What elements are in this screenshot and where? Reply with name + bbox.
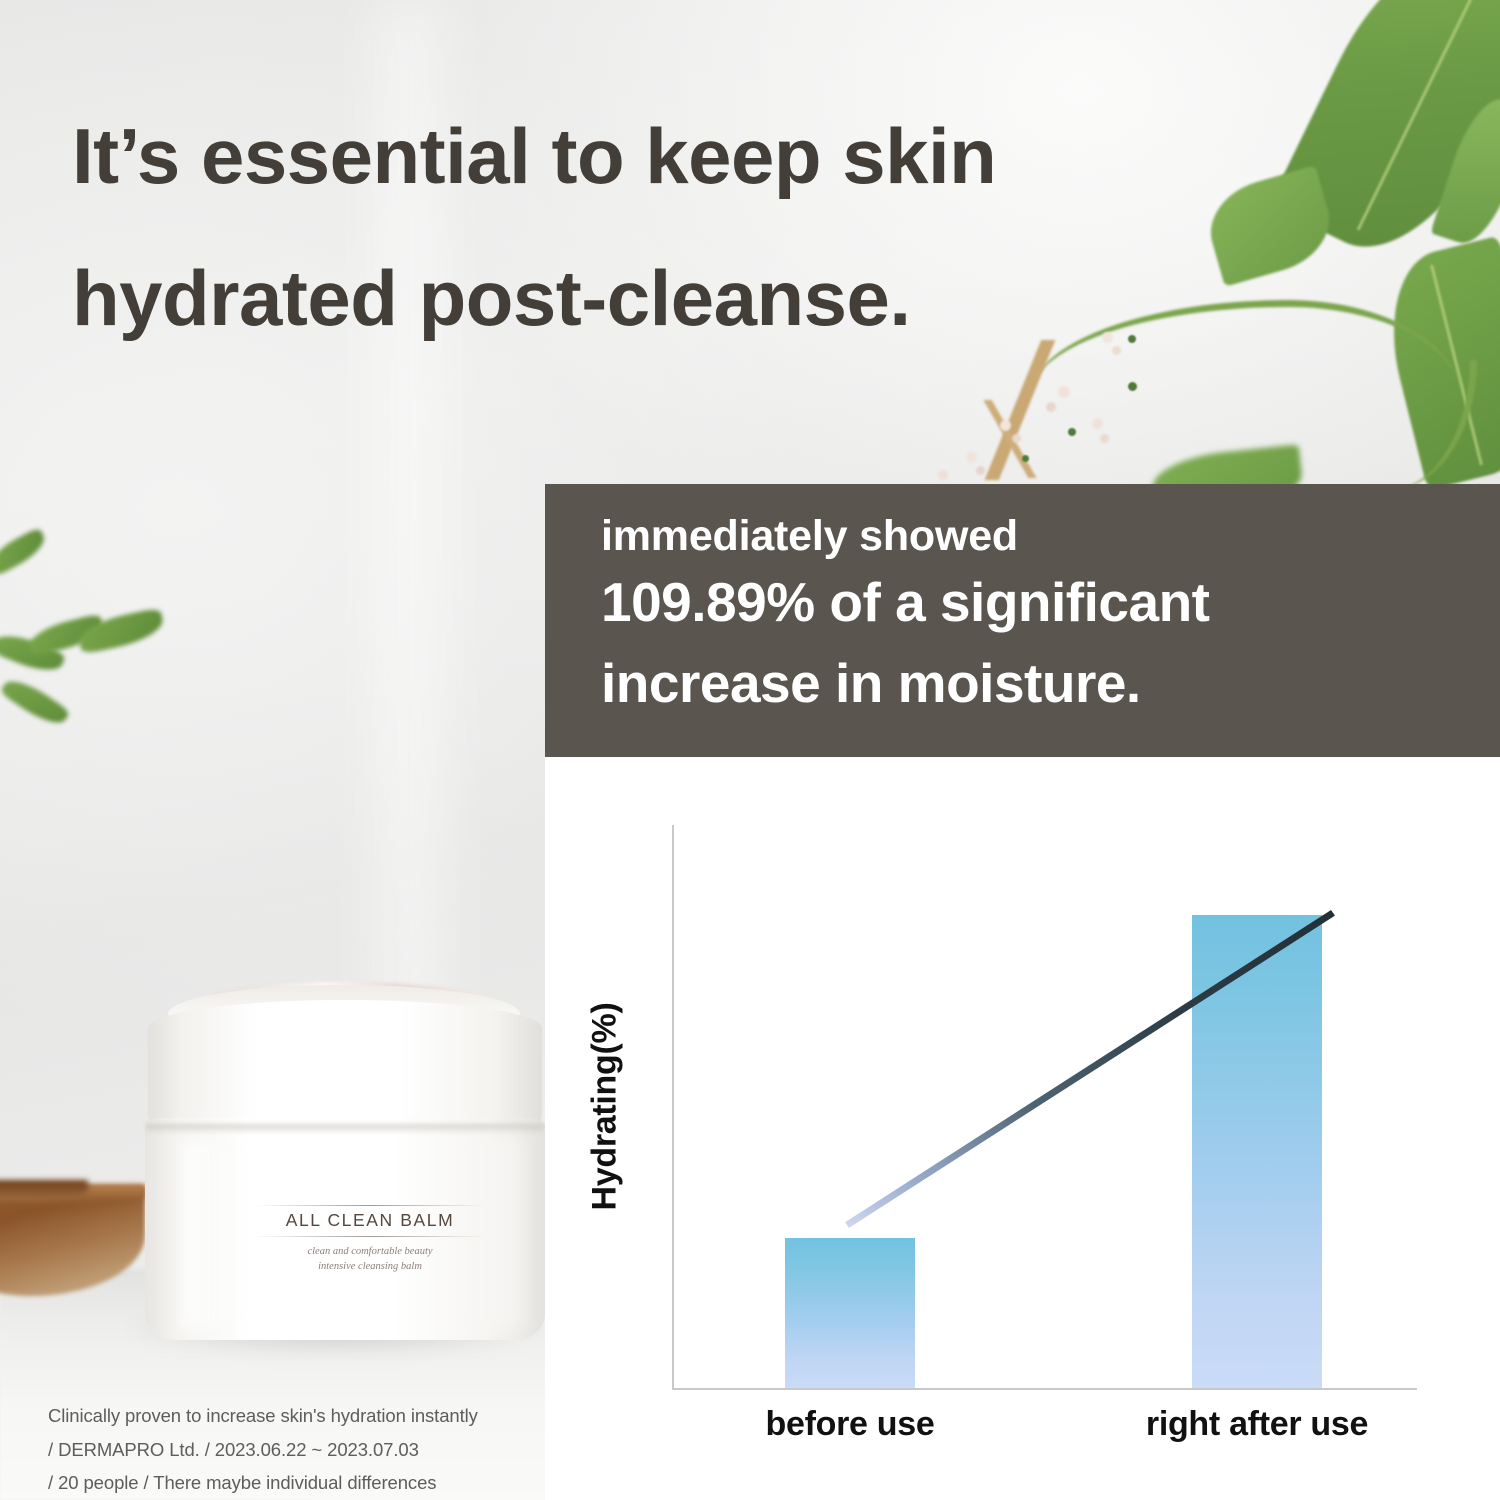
flower-bud xyxy=(1022,455,1029,462)
flower-bud xyxy=(1100,434,1109,443)
callout-text-block: immediately showed 109.89% of a signific… xyxy=(601,510,1482,723)
flower-bud xyxy=(976,466,985,475)
chart-y-axis-label: Hydrating(%) xyxy=(586,897,625,1317)
chart-y-axis-line xyxy=(672,825,674,1390)
flower-bud xyxy=(1058,386,1070,398)
study-footnote: Clinically proven to increase skin's hyd… xyxy=(48,1399,548,1500)
jar-label-subtitle-1: clean and comfortable beauty xyxy=(255,1237,485,1259)
headline-line-2: hydrated post-cleanse. xyxy=(72,228,1252,370)
chart-x-axis-line xyxy=(672,1388,1417,1390)
flower-bud xyxy=(1046,402,1056,412)
statistic-callout-box: immediately showed 109.89% of a signific… xyxy=(545,484,1500,758)
callout-line-3: increase in moisture. xyxy=(601,643,1482,723)
page-title: It’s essential to keep skin hydrated pos… xyxy=(72,86,1252,370)
jar-lid xyxy=(148,1000,542,1128)
footnote-line-1: Clinically proven to increase skin's hyd… xyxy=(48,1399,548,1433)
flower-bud xyxy=(966,452,977,463)
chart-bar-before-use xyxy=(785,1238,915,1388)
hydration-bar-chart: Hydrating(%) before use right after use xyxy=(545,757,1500,1500)
flower-bud xyxy=(1000,420,1011,431)
flower-bud xyxy=(1128,382,1137,391)
chart-trend-line xyxy=(845,907,1335,1227)
footnote-line-3: / 20 people / There maybe individual dif… xyxy=(48,1466,548,1500)
callout-line-2: 109.89% of a significant xyxy=(601,562,1482,642)
jar-label-title: ALL CLEAN BALM xyxy=(255,1206,485,1236)
jar-front-label: ALL CLEAN BALM clean and comfortable bea… xyxy=(255,1205,485,1274)
chart-x-tick-before-use: before use xyxy=(720,1405,980,1444)
chart-x-tick-right-after-use: right after use xyxy=(1107,1405,1407,1444)
jar-highlight-left xyxy=(182,1140,238,1330)
flower-bud xyxy=(938,470,948,480)
product-infographic: ALL CLEAN BALM ALL CLEAN BALM clean and … xyxy=(0,0,1500,1500)
headline-line-1: It’s essential to keep skin xyxy=(72,86,1252,228)
callout-line-1: immediately showed xyxy=(601,510,1482,562)
flower-bud xyxy=(1012,434,1021,443)
flower-bud xyxy=(1092,418,1103,429)
jar-label-subtitle-2: intensive cleansing balm xyxy=(255,1259,485,1274)
jar-seam xyxy=(146,1124,544,1134)
flower-bud xyxy=(1068,428,1076,436)
footnote-line-2: / DERMAPRO Ltd. / 2023.06.22 ~ 2023.07.0… xyxy=(48,1433,548,1467)
